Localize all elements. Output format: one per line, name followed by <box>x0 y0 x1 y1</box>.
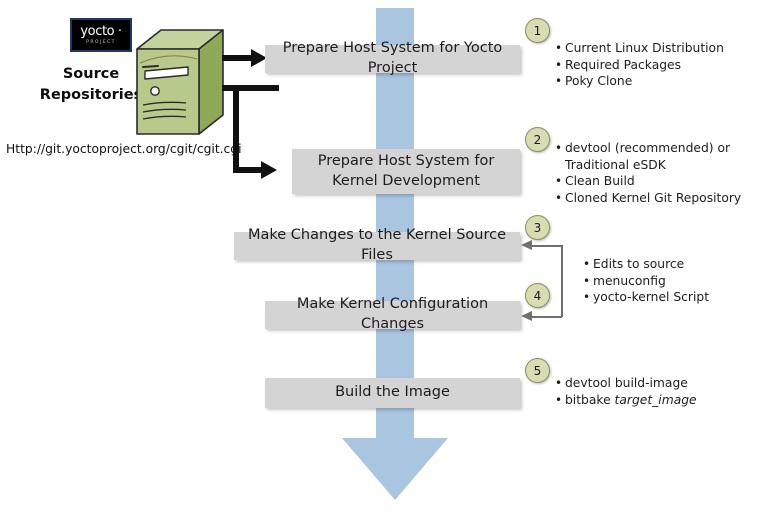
arrow-server-to-step2-segment-v <box>233 85 239 172</box>
process-box-make-kernel-config-changes[interactable]: Make Kernel Configuration Changes <box>265 301 520 329</box>
list-item: devtool build-image <box>565 375 767 392</box>
step-number-4: 4 <box>525 283 550 308</box>
logo-wordmark: yocto · <box>80 25 121 38</box>
bracket-arrowhead-step3-icon <box>521 240 532 250</box>
process-box-prepare-host-kernel[interactable]: Prepare Host System for Kernel Developme… <box>292 149 520 194</box>
step-number-2: 2 <box>525 127 550 152</box>
list-item: bitbake target_image <box>565 392 767 409</box>
list-item-text: devtool build-image <box>565 376 688 390</box>
list-item: Current Linux Distribution <box>565 40 767 57</box>
list-item-text: bitbake <box>565 393 615 407</box>
bracket-connector-vertical <box>561 245 563 317</box>
source-repositories-url: Http://git.yoctoproject.org/cgit/cgit.cg… <box>6 142 242 156</box>
list-item: menuconfig <box>593 273 760 290</box>
bullet-list-steps-3-and-4: Edits to source menuconfig yocto-kernel … <box>580 256 760 306</box>
bracket-arrowhead-step4-icon <box>521 311 532 321</box>
bracket-connector-top-arm <box>531 245 562 247</box>
yocto-project-logo: yocto · PROJECT <box>70 18 132 52</box>
diagram-canvas: yocto · PROJECT Source Repositories Http… <box>0 0 769 517</box>
list-item: yocto-kernel Script <box>593 289 760 306</box>
flow-arrowhead-icon <box>342 438 448 500</box>
process-box-prepare-host-yocto[interactable]: Prepare Host System for Yocto Project <box>265 45 520 73</box>
bracket-connector-bottom-arm <box>531 316 562 318</box>
list-item: devtool (recommended) or Traditional eSD… <box>565 140 767 173</box>
server-tower-icon <box>134 27 226 143</box>
bullet-list-step1: Current Linux Distribution Required Pack… <box>552 40 767 90</box>
arrow-server-to-step2-segment-h1 <box>222 85 279 91</box>
process-box-make-changes-kernel-source[interactable]: Make Changes to the Kernel Source Files <box>234 232 520 260</box>
step-number-5: 5 <box>525 358 550 383</box>
step-number-1: 1 <box>525 18 550 43</box>
bullet-list-step2: devtool (recommended) or Traditional eSD… <box>552 140 767 206</box>
list-item: Required Packages <box>565 57 767 74</box>
list-item: Edits to source <box>593 256 760 273</box>
source-repositories-label: Source Repositories <box>36 64 146 106</box>
list-item: Cloned Kernel Git Repository <box>565 190 767 207</box>
list-item-emphasis: target_image <box>615 393 697 407</box>
process-box-build-the-image[interactable]: Build the Image <box>265 378 520 408</box>
bullet-list-step5: devtool build-image bitbake target_image <box>552 375 767 408</box>
list-item: Poky Clone <box>565 73 767 90</box>
step-number-3: 3 <box>525 215 550 240</box>
arrow-server-to-step2-head-icon <box>261 161 277 179</box>
logo-subtext: PROJECT <box>86 39 116 46</box>
list-item: Clean Build <box>565 173 767 190</box>
